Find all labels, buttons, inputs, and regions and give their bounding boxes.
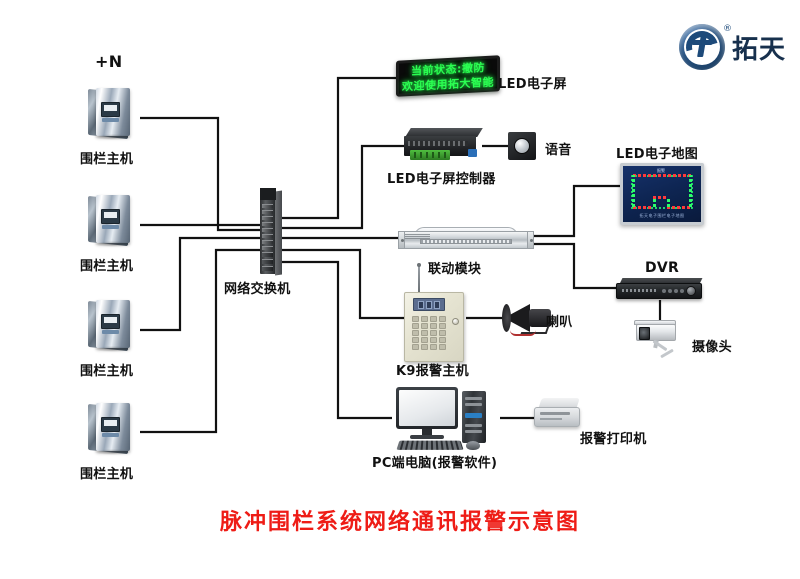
led-controller-icon bbox=[404, 128, 482, 162]
desktop-computer-icon bbox=[392, 387, 502, 451]
led-map-icon: 报警 拓天电子围栏电子地图 bbox=[620, 163, 704, 225]
camera-icon bbox=[632, 320, 690, 358]
voice-module[interactable] bbox=[508, 132, 536, 160]
network-switch-icon bbox=[258, 188, 284, 274]
printer-icon bbox=[534, 398, 582, 430]
led-screen-icon: 当前状态:撤防 欢迎使用拓大智能 bbox=[396, 55, 500, 96]
fence-host-2[interactable] bbox=[88, 195, 134, 247]
network-switch-label: 网络交换机 bbox=[224, 278, 291, 297]
horn-speaker-label: 喇叭 bbox=[546, 311, 573, 330]
dvr[interactable] bbox=[616, 278, 704, 302]
diagram-canvas: ® 拓天 +N 围栏主机 围栏主机 围栏主机 围栏主机 bbox=[0, 0, 800, 579]
brand-name: 拓天 bbox=[732, 29, 786, 66]
led-controller-label: LED电子屏控制器 bbox=[387, 168, 496, 187]
camera[interactable] bbox=[632, 320, 690, 358]
fence-host-icon bbox=[88, 88, 134, 140]
fence-host-icon bbox=[88, 403, 134, 455]
fence-host-2-label: 围栏主机 bbox=[80, 255, 133, 274]
led-map-top-text: 报警 bbox=[657, 168, 665, 174]
fence-host-4[interactable] bbox=[88, 403, 134, 455]
led-screen[interactable]: 当前状态:撤防 欢迎使用拓大智能 bbox=[396, 58, 500, 94]
led-map-caption: 拓天电子围栏电子地图 bbox=[623, 213, 701, 219]
fence-host-3[interactable] bbox=[88, 300, 134, 352]
k9-alarm-host[interactable] bbox=[404, 288, 466, 364]
diagram-title: 脉冲围栏系统网络通讯报警示意图 bbox=[0, 504, 800, 536]
k9-alarm-host-label: K9报警主机 bbox=[396, 360, 469, 379]
led-screen-label: LED电子屏 bbox=[498, 73, 567, 92]
network-switch[interactable] bbox=[258, 188, 284, 274]
fence-host-1[interactable] bbox=[88, 88, 134, 140]
dvr-label: DVR bbox=[645, 260, 679, 276]
fence-host-1-label: 围栏主机 bbox=[80, 148, 133, 167]
plus-n-label: +N bbox=[95, 52, 122, 71]
tuotian-circle-logo-icon: ® bbox=[679, 24, 725, 70]
registered-mark: ® bbox=[723, 24, 732, 34]
pc-computer-label: PC端电脑(报警软件) bbox=[372, 452, 497, 471]
pc-computer[interactable] bbox=[392, 387, 502, 451]
voice-module-icon bbox=[508, 132, 536, 160]
alarm-printer-label: 报警打印机 bbox=[580, 428, 647, 447]
brand-logo: ® 拓天 bbox=[679, 24, 786, 70]
fence-host-icon bbox=[88, 195, 134, 247]
linkage-module-icon bbox=[398, 227, 534, 253]
alarm-host-icon bbox=[404, 288, 466, 364]
led-controller[interactable] bbox=[404, 128, 482, 162]
led-map-label: LED电子地图 bbox=[616, 143, 698, 162]
dvr-icon bbox=[616, 278, 704, 302]
linkage-module-label: 联动模块 bbox=[428, 258, 481, 277]
linkage-module[interactable] bbox=[398, 227, 534, 253]
led-map[interactable]: 报警 拓天电子围栏电子地图 bbox=[620, 163, 704, 225]
camera-label: 摄像头 bbox=[692, 336, 732, 355]
alarm-printer[interactable] bbox=[534, 398, 582, 430]
voice-module-label: 语音 bbox=[545, 139, 572, 158]
fence-host-3-label: 围栏主机 bbox=[80, 360, 133, 379]
fence-host-4-label: 围栏主机 bbox=[80, 463, 133, 482]
fence-host-icon bbox=[88, 300, 134, 352]
